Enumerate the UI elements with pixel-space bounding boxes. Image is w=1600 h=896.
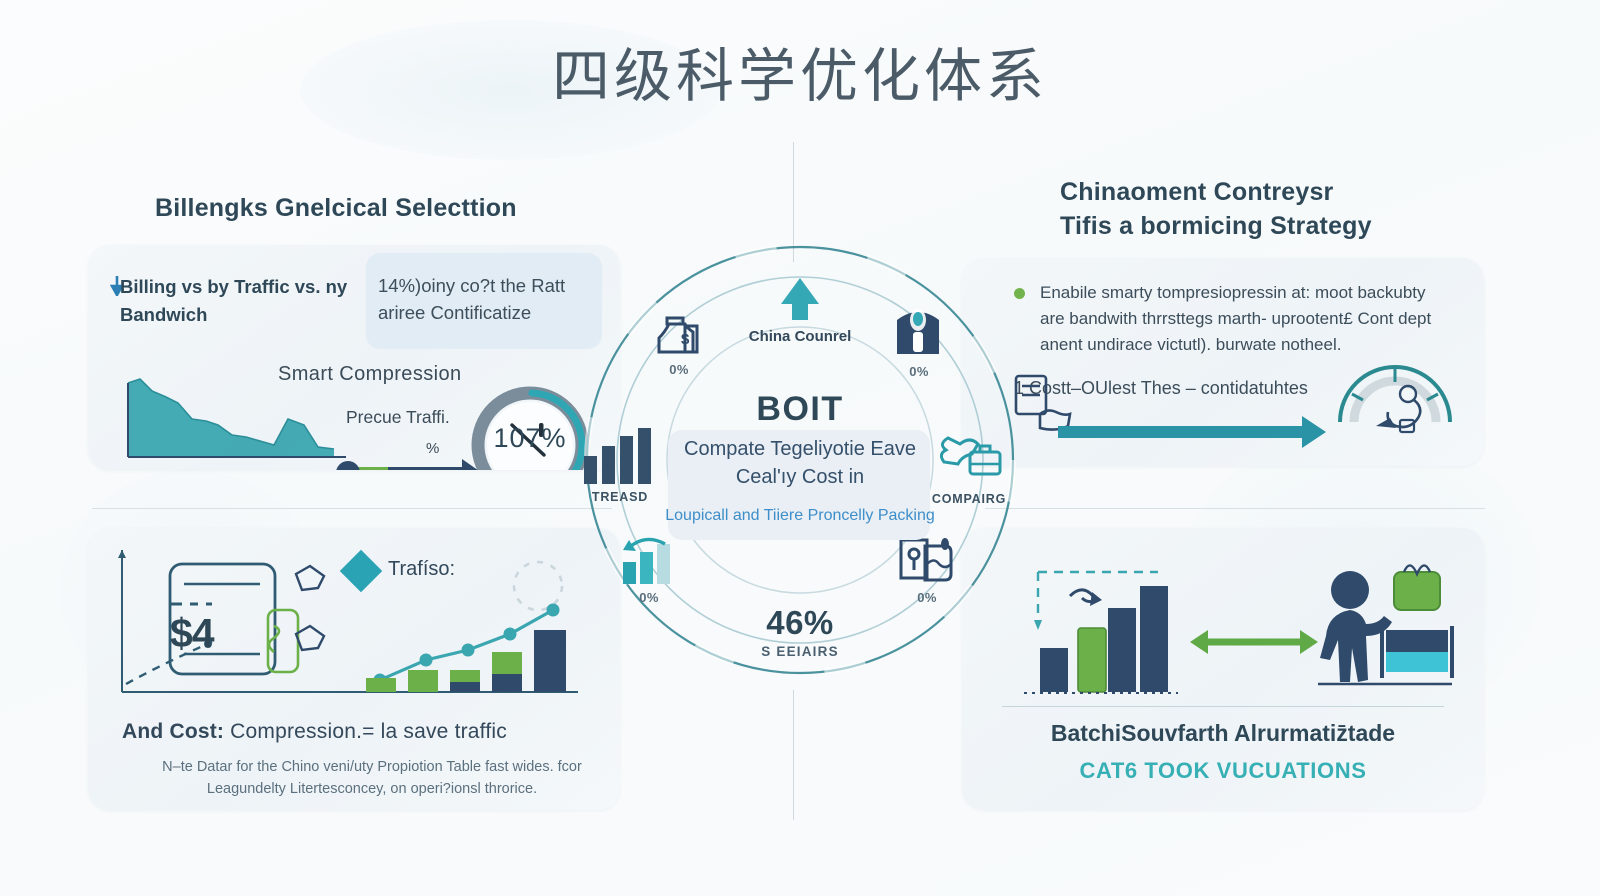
arrow-up-icon — [777, 274, 823, 326]
page-title: 四级科学优化体系 — [0, 46, 1600, 107]
right-arrow-bar — [1058, 426, 1304, 438]
hub-line2: Loupicall and Tiiere Proncelly Packing — [650, 504, 950, 527]
compairg-icon — [930, 428, 1008, 488]
legend-label: Trafíso: — [388, 558, 455, 581]
panel-top-left: Billing vs by Traffic vs. ny Bandwich 14… — [88, 245, 620, 470]
top-right-bullet-text: Enabile smarty tompresiopressin at: moot… — [1040, 280, 1432, 357]
side-label-right: COMPAIRG — [922, 492, 1016, 506]
document-amount-value: $4 — [170, 610, 214, 657]
divider-horizontal-right — [985, 508, 1485, 509]
treasd-bar-icon — [580, 424, 656, 486]
percent-symbol-label: % — [426, 440, 439, 457]
slider-fill — [388, 467, 468, 470]
wheel-stat-label: S EEIAIRS — [555, 644, 1045, 659]
node-caption-china: China Counrel — [740, 328, 860, 347]
node-label-0: 0% — [635, 362, 723, 377]
wheel-stat-value: 46% — [555, 604, 1045, 642]
money-bag-icon: $ — [651, 304, 707, 360]
bottom-left-caption-bold: And Cost: — [122, 720, 224, 743]
side-label-left: TREASD — [582, 490, 658, 504]
document-gauge-icon — [895, 532, 957, 590]
bottom-left-caption: And Cost: Compression.= la save traffic — [122, 720, 620, 744]
divider-vertical-bottom — [793, 690, 794, 820]
bottom-right-chart — [982, 544, 1472, 704]
bottom-right-subcaption: CAT6 TOOK VUCUATIONS — [962, 758, 1484, 784]
right-arrow-head-icon — [1302, 416, 1326, 448]
bottom-right-divider — [1002, 706, 1444, 707]
svg-text:$: $ — [681, 331, 690, 348]
server-building-icon — [887, 300, 949, 360]
smart-compression-label: Smart Compression — [278, 363, 462, 386]
hub-line1: Compate Tegeliyotie Eave Ceal'ıy Cost in — [655, 435, 945, 492]
speedometer-person-icon — [1330, 350, 1460, 460]
divider-horizontal-left — [92, 508, 612, 509]
top-left-heading: Billengks Gnelcical Selecttion — [155, 192, 625, 226]
bottom-right-caption: BatchiSouvfarth Alrurmatiz̄tade — [962, 720, 1484, 747]
node-label-4: 0% — [883, 590, 971, 605]
infographic-canvas: 四级科学优化体系 Billengks Gnelcical Selecttion … — [0, 0, 1600, 896]
top-right-heading-line2: Tifis a bormicing Strategy — [1060, 210, 1490, 244]
bottom-left-subtext: N–te Datar for the Chino veni/uty Propio… — [122, 756, 620, 801]
node-label-3: 0% — [605, 590, 693, 605]
top-right-heading-line1: Chinaoment Contreysr — [1060, 176, 1490, 210]
node-label-2: 0% — [875, 364, 963, 379]
top-right-heading: Chinaoment Contreysr Tifis a bormicing S… — [1060, 176, 1490, 243]
top-left-bullet-text: Billing vs by Traffic vs. ny Bandwich — [120, 273, 356, 329]
precue-traffic-label: Precue Traffi. — [346, 407, 450, 428]
bar-arrow-icon — [617, 534, 679, 590]
panel-bottom-left: $4 Trafíso: And Cost: Compression.= la s… — [88, 528, 620, 810]
bottom-left-caption-rest: Compression.= la save traffic — [224, 720, 507, 743]
